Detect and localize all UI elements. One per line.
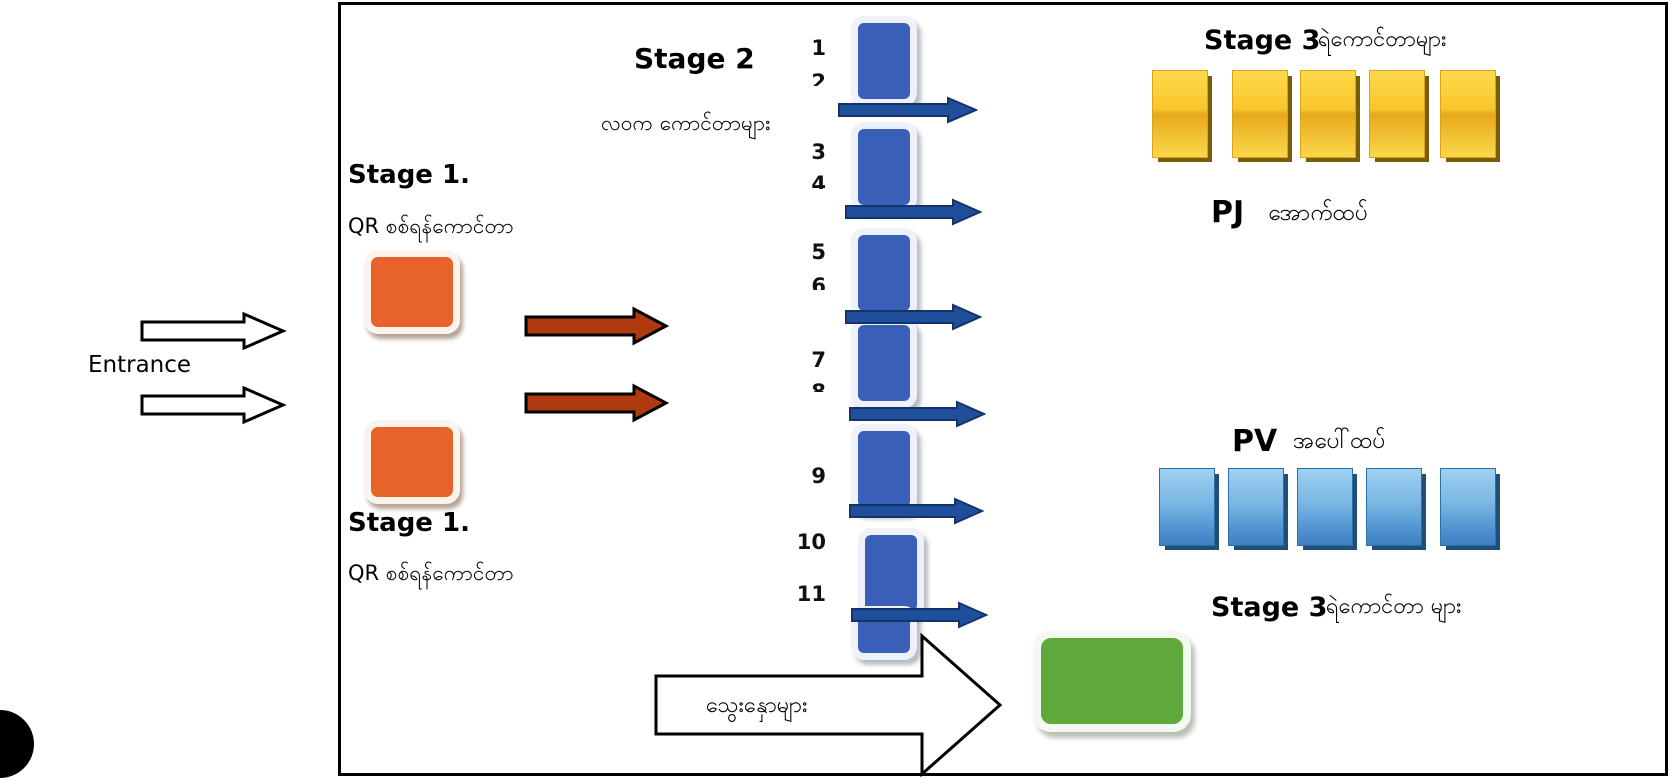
stage3-lower-desk[interactable] xyxy=(1440,468,1496,546)
stage2-heading: Stage 2 xyxy=(634,42,755,75)
counter-number-8: 8 xyxy=(792,380,826,392)
counter-number-11: 11 xyxy=(786,582,826,606)
transfer-arrow-bottom xyxy=(524,383,669,427)
counter-number-4: 4 xyxy=(792,172,826,189)
stage2-flow-arrow xyxy=(851,601,988,633)
pv-floor-text: အပေါ်ထပ် xyxy=(1293,426,1385,460)
entrance-arrow-top xyxy=(140,312,285,350)
stage2-flow-arrow xyxy=(845,303,982,335)
exit-arrow-label: သွေးနှောများ xyxy=(706,690,807,723)
qr-scanner-box-bottom[interactable] xyxy=(364,420,460,504)
stage2-flow-arrow xyxy=(849,497,984,529)
counter-number-2: 2 xyxy=(792,70,826,86)
counter-number-9: 9 xyxy=(792,464,826,488)
transfer-arrow-top xyxy=(524,306,669,350)
stage3-lower-desk[interactable] xyxy=(1159,468,1215,546)
stage1-top-heading: Stage 1. xyxy=(348,160,470,190)
stage3-upper-desk[interactable] xyxy=(1369,70,1425,158)
pv-floor-code: PV xyxy=(1232,424,1277,459)
stage3-upper-heading: Stage 3 xyxy=(1204,25,1320,56)
counter-number-7: 7 xyxy=(792,348,826,372)
stage3-upper-subtitle: ရဲကောင်တာများ xyxy=(1318,24,1447,57)
stage2-subtitle: လဝက ကောင်တာများ xyxy=(601,110,770,141)
stage3-lower-desk[interactable] xyxy=(1228,468,1284,546)
entrance-arrow-bottom xyxy=(140,386,285,424)
stage3-lower-desk[interactable] xyxy=(1297,468,1353,546)
counter-number-10: 10 xyxy=(786,530,826,554)
counter-number-3: 3 xyxy=(792,140,826,164)
counter-number-1: 1 xyxy=(792,36,826,60)
counter-number-6: 6 xyxy=(792,274,826,290)
stage3-upper-desk[interactable] xyxy=(1300,70,1356,158)
stage3-lower-desk[interactable] xyxy=(1366,468,1422,546)
corner-wedge xyxy=(0,710,34,778)
counter-number-5: 5 xyxy=(792,240,826,264)
entrance-label: Entrance xyxy=(88,352,191,378)
stage2-flow-arrow xyxy=(849,400,986,432)
stage2-flow-arrow xyxy=(845,198,982,230)
stage1-bottom-heading: Stage 1. xyxy=(348,508,470,538)
qr-scanner-box-top[interactable] xyxy=(364,250,460,334)
stage3-upper-desk[interactable] xyxy=(1152,70,1208,158)
exit-green-box[interactable] xyxy=(1033,630,1191,732)
pj-floor-code: PJ xyxy=(1211,195,1244,230)
stage1-top-subtitle: QR စစ်ရန်ကောင်တာ xyxy=(348,213,514,244)
stage3-lower-heading: Stage 3 xyxy=(1211,592,1327,623)
stage2-flow-arrow xyxy=(838,96,978,128)
stage3-upper-desk[interactable] xyxy=(1232,70,1288,158)
stage3-lower-subtitle: ရဲကောင်တာ များ xyxy=(1326,591,1462,624)
stage1-bottom-subtitle: QR စစ်ရန်ကောင်တာ xyxy=(348,560,514,591)
pj-floor-text: အောက်ထပ် xyxy=(1268,198,1368,232)
stage2-counter-box[interactable] xyxy=(851,16,917,106)
stage3-upper-desk[interactable] xyxy=(1440,70,1496,158)
